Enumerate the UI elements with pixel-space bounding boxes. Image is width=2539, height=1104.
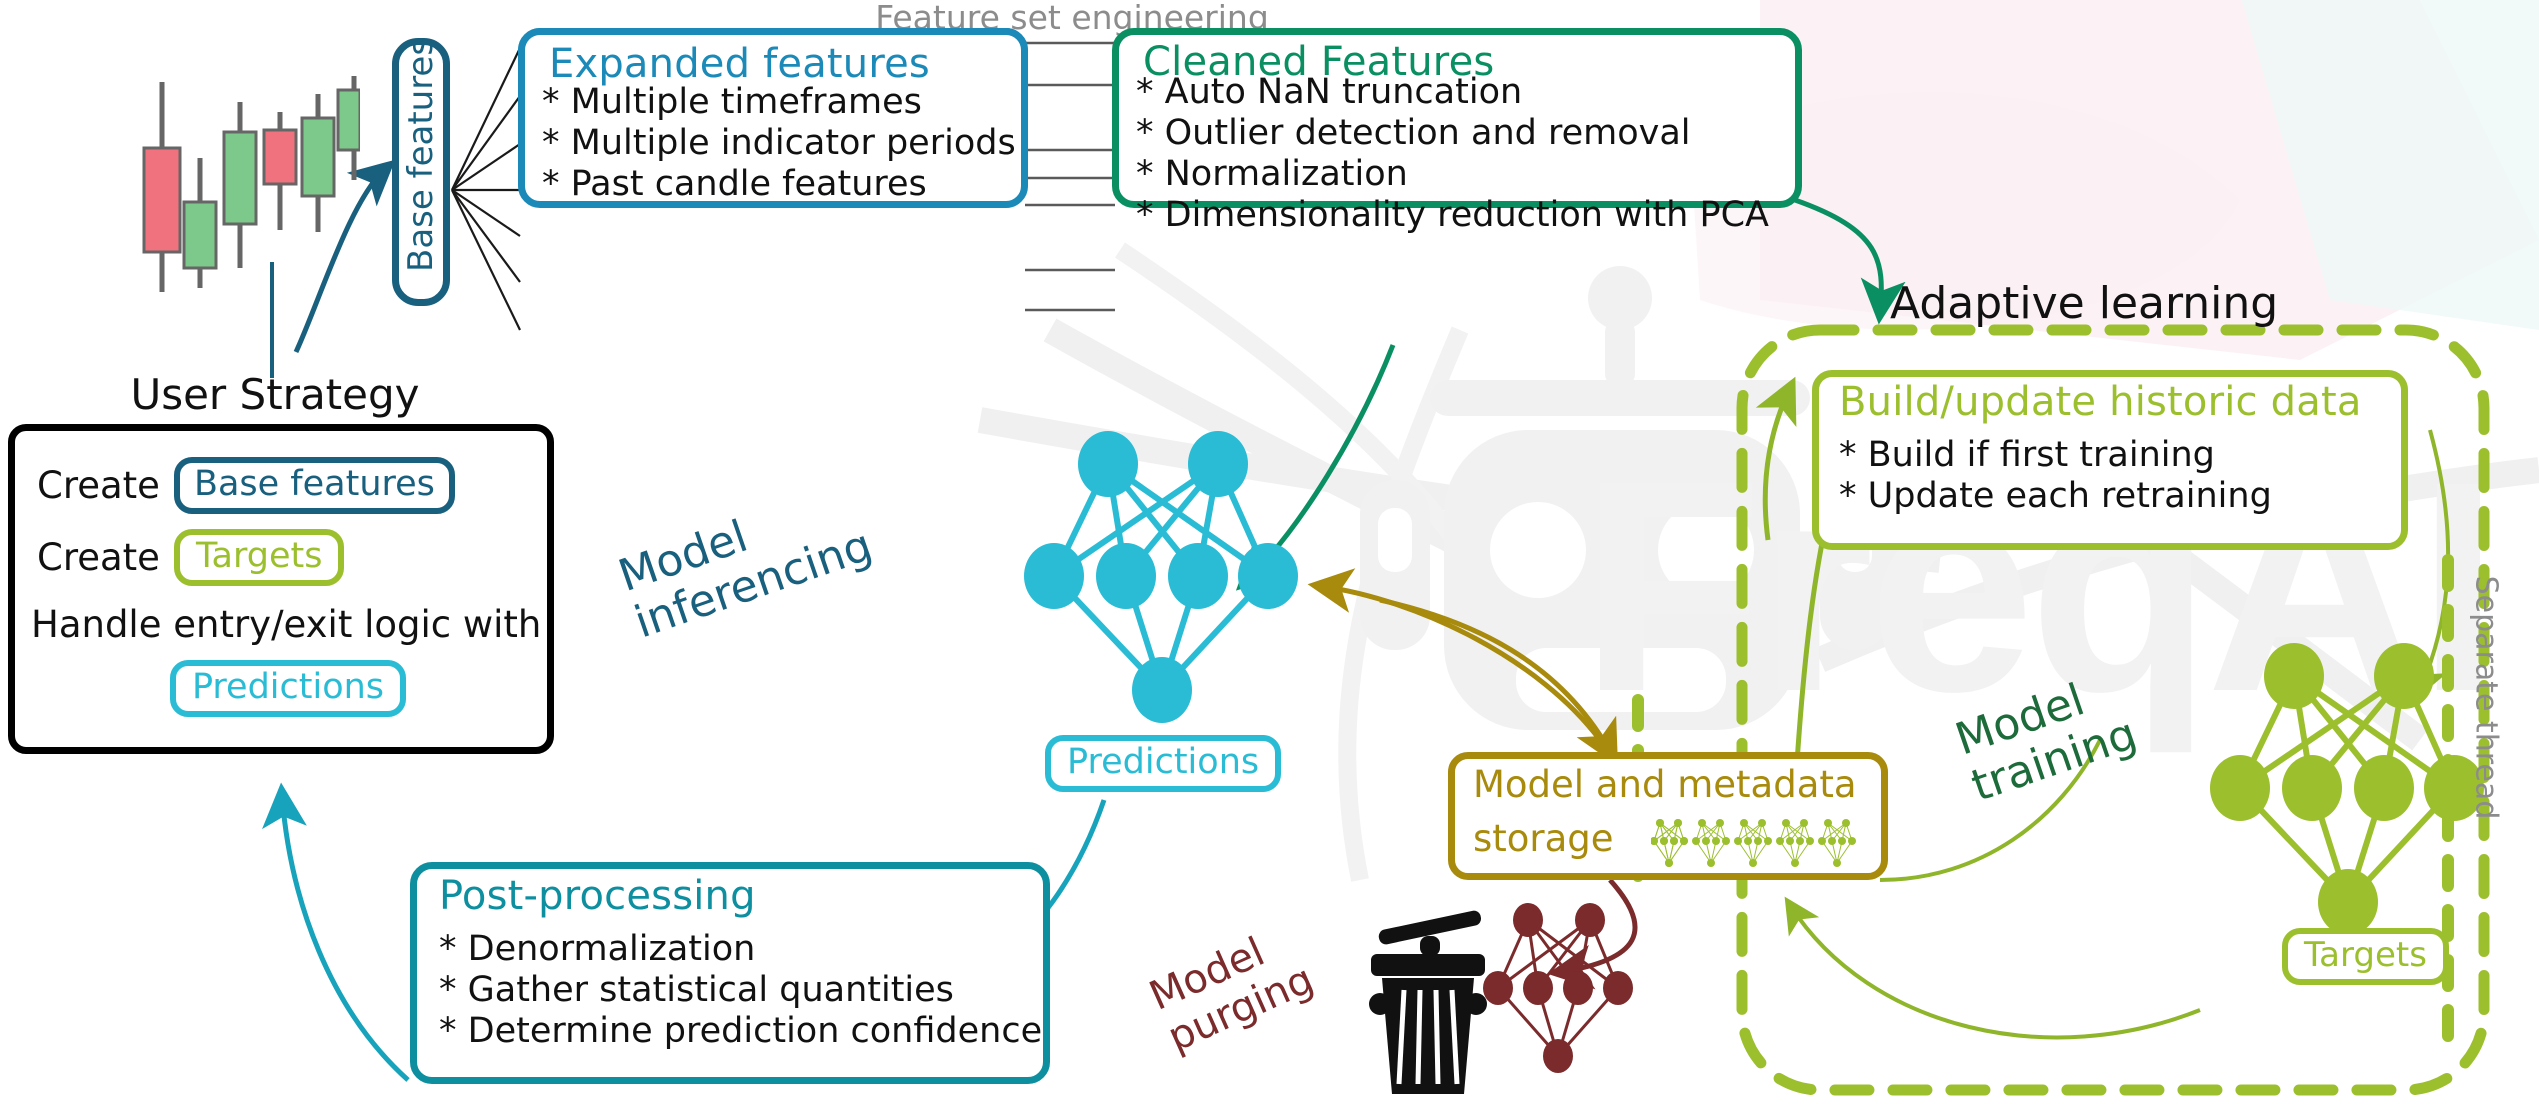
separate-thread-text: Separate thread	[2469, 548, 2504, 848]
cleaned-features-body: * Auto NaN truncation * Outlier detectio…	[1136, 72, 1796, 236]
predictions-pill-label: Predictions	[1045, 735, 1281, 792]
build-update-historic-data-box[interactable]: Build/update historic data * Build if fi…	[1812, 370, 2408, 550]
list-item: * Gather statistical quantities	[439, 970, 1039, 1011]
diagram-canvas: FreqAI	[0, 0, 2539, 1104]
adaptive-learning-heading: Adaptive learning	[1890, 278, 2410, 329]
list-item: * Auto NaN truncation	[1136, 72, 1796, 113]
list-item: * Multiple timeframes	[542, 82, 1022, 123]
training-neural-network	[2208, 640, 2494, 940]
model-metadata-storage-box[interactable]: Model and metadata storage	[1448, 752, 1888, 880]
base-features-pill[interactable]: Base features	[392, 38, 450, 306]
create-targets-prefix: Create	[37, 536, 160, 579]
list-item: * Outlier detection and removal	[1136, 113, 1796, 154]
candlestick-chart	[140, 70, 360, 310]
purged-model-network	[1480, 900, 1640, 1080]
base-features-pill-strategy[interactable]: Base features	[174, 457, 455, 514]
list-item: * Denormalization	[439, 929, 1039, 970]
list-item: * Determine prediction confidence	[439, 1011, 1039, 1052]
base-features-label: Base features	[401, 76, 441, 272]
trash-can-icon	[1368, 908, 1488, 1098]
create-base-features-prefix: Create	[37, 464, 160, 507]
targets-pill-strategy[interactable]: Targets	[174, 529, 345, 586]
list-item: * Multiple indicator periods	[542, 123, 1022, 164]
list-item: * Normalization	[1136, 154, 1796, 195]
predictions-pill-inference[interactable]: Predictions	[1045, 735, 1281, 792]
list-item: * Past candle features	[542, 164, 1022, 205]
storage-line2: storage	[1473, 817, 1614, 860]
list-item: * Update each retraining	[1839, 476, 2399, 517]
expanded-features-bullets: * Multiple timeframes * Multiple indicat…	[542, 82, 1022, 205]
inference-neural-network	[1022, 428, 1308, 728]
cleaned-features-bullets: * Auto NaN truncation * Outlier detectio…	[1136, 72, 1796, 236]
user-strategy-box[interactable]: Create Base features Create Targets Hand…	[8, 424, 554, 754]
user-strategy-heading: User Strategy	[100, 370, 450, 419]
list-item: * Dimensionality reduction with PCA	[1136, 195, 1796, 236]
post-processing-title: Post-processing	[439, 875, 756, 917]
predictions-pill-strategy[interactable]: Predictions	[170, 660, 406, 717]
list-item: * Build if first training	[1839, 435, 2399, 476]
separate-thread-label: Separate thread	[2466, 560, 2539, 600]
stored-models-icon	[1651, 817, 1871, 873]
storage-line1: Model and metadata	[1473, 763, 1857, 806]
build-update-bullets: * Build if first training * Update each …	[1839, 435, 2399, 517]
post-processing-bullets: * Denormalization * Gather statistical q…	[439, 929, 1039, 1052]
targets-pill-label: Targets	[2282, 928, 2449, 985]
entry-exit-logic-text: Handle entry/exit logic with	[31, 603, 545, 646]
expanded-features-body: * Multiple timeframes * Multiple indicat…	[542, 82, 1022, 205]
post-processing-box[interactable]: Post-processing * Denormalization * Gath…	[410, 862, 1050, 1084]
build-update-title: Build/update historic data	[1839, 381, 2362, 423]
targets-pill-training[interactable]: Targets	[2282, 928, 2449, 985]
